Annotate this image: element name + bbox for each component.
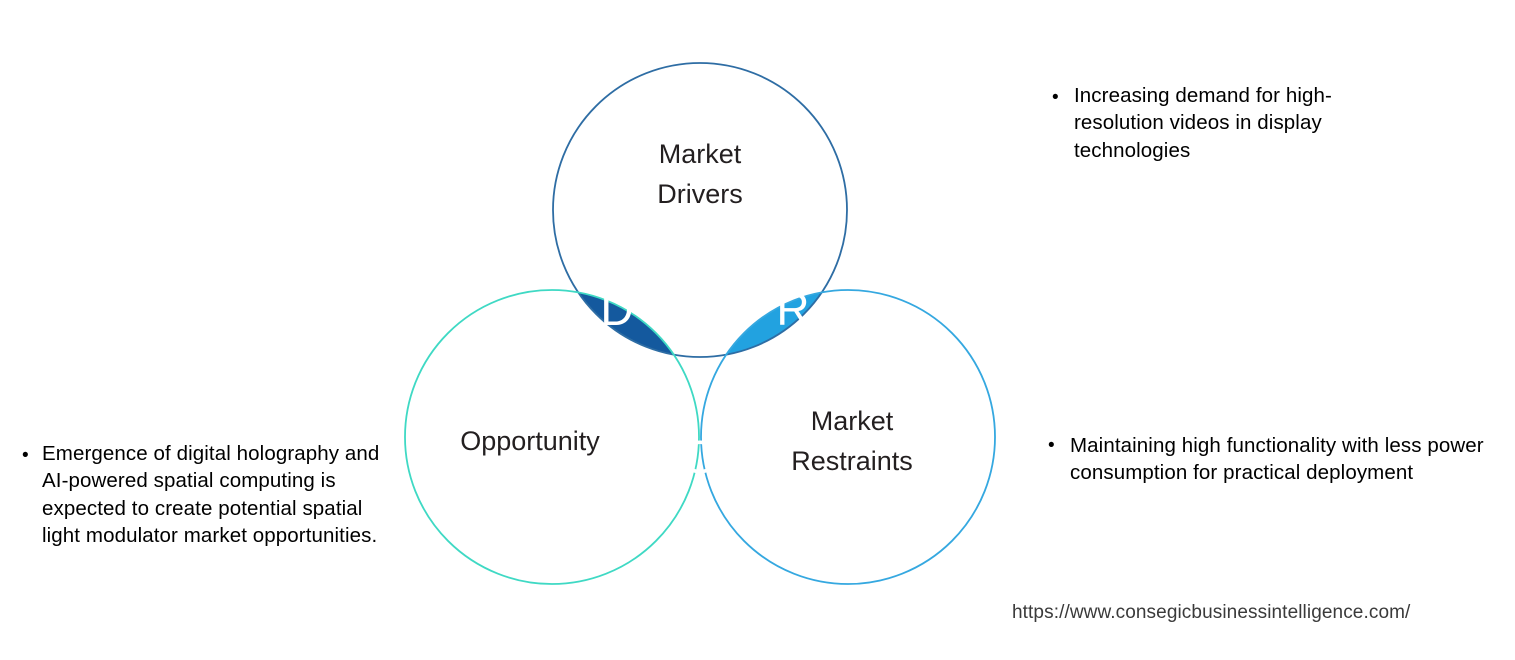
label-opportunity: Opportunity xyxy=(460,426,600,456)
label-market-drivers-line2: Drivers xyxy=(657,179,743,209)
callout-market-restraints-text: Maintaining high functionality with less… xyxy=(1070,432,1498,487)
bullet-icon: • xyxy=(22,440,42,465)
label-market-drivers-line1: Market xyxy=(659,139,742,169)
bullet-icon: • xyxy=(1052,82,1074,107)
lens-r-region xyxy=(380,45,1020,615)
bullet-icon: • xyxy=(1048,432,1070,455)
callout-market-drivers-text: Increasing demand for high-resolution vi… xyxy=(1074,82,1404,164)
lens-d-region xyxy=(380,45,1020,615)
callout-market-restraints: • Maintaining high functionality with le… xyxy=(1048,432,1508,487)
source-url[interactable]: https://www.consegicbusinessintelligence… xyxy=(1012,602,1410,624)
lens-letter-o: O xyxy=(682,431,718,483)
callout-opportunity: • Emergence of digital holography and AI… xyxy=(22,440,414,549)
callout-market-drivers: • Increasing demand for high-resolution … xyxy=(1052,82,1452,164)
label-market-restraints-line1: Market xyxy=(811,406,894,436)
lens-o-region xyxy=(380,45,1020,615)
venn-svg: Market Drivers Market Restraints Opportu… xyxy=(380,45,1020,615)
lens-letter-r: R xyxy=(776,283,809,335)
callout-opportunity-text: Emergence of digital holography and AI-p… xyxy=(42,440,402,549)
venn-diagram: Market Drivers Market Restraints Opportu… xyxy=(380,45,1020,615)
venn-center-intersection xyxy=(380,45,1020,615)
label-market-restraints-line2: Restraints xyxy=(791,446,913,476)
lens-letter-d: D xyxy=(600,283,633,335)
